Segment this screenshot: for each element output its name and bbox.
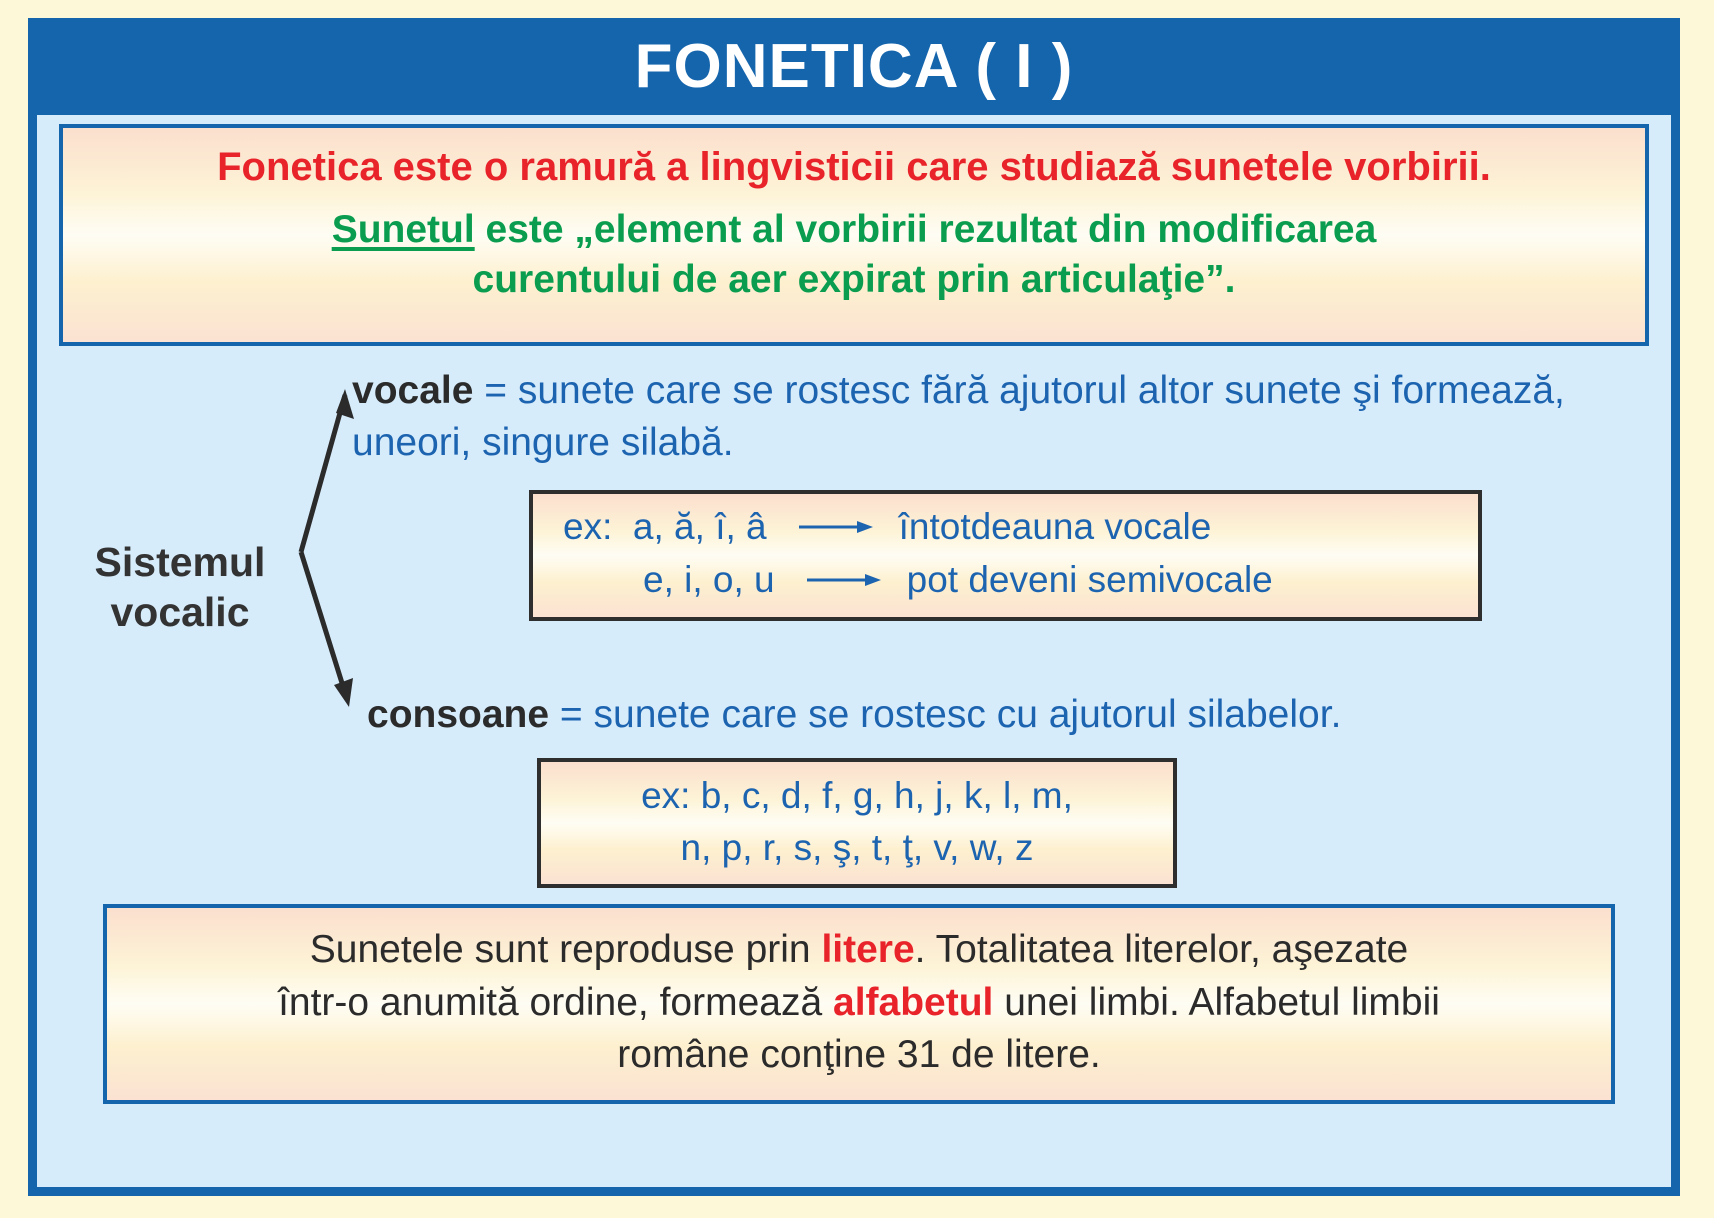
vocale-example-row-2: e, i, o, u pot deveni semivocale [533, 559, 1478, 602]
bottom-line-2-b: unei limbi. Alfabetul limbii [993, 981, 1440, 1024]
arrow-up-icon [301, 395, 345, 552]
vocale-examples-box: ex: a, ă, î, â întotdeauna vocale e, i, … [529, 490, 1482, 621]
definition-line-1: Fonetica este o ramură a lingvisticii ca… [63, 144, 1645, 191]
bottom-line-1-a: Sunetele sunt reproduse prin [310, 928, 822, 971]
consoane-definition-text: = sunete care se rostesc cu ajutorul sil… [549, 693, 1341, 736]
consoane-examples-box: ex: b, c, d, f, g, h, j, k, l, m, n, p, … [537, 758, 1177, 888]
bottom-line-1-b: . Totalitatea literelor, aşezate [915, 928, 1409, 971]
definition-panel: Fonetica este o ramură a lingvisticii ca… [59, 124, 1649, 346]
definition-keyword: Sunetul [332, 208, 475, 251]
definition-line-3: curentului de aer expirat prin articulaţ… [63, 255, 1645, 305]
bottom-line-2: într-o anumită ordine, formează alfabetu… [107, 977, 1611, 1030]
vocale-example-1-label: ex: a, ă, î, â [563, 506, 767, 549]
slide-title-bar: FONETICA ( I ) [28, 18, 1680, 115]
arrow-right-icon [805, 569, 883, 591]
bottom-line-1: Sunetele sunt reproduse prin litere. Tot… [107, 924, 1611, 977]
system-label: Sistemul vocalic [65, 537, 295, 637]
vocale-definition: vocale = sunete care se rostesc fără aju… [352, 365, 1652, 469]
vocale-example-2-result: pot deveni semivocale [883, 559, 1273, 602]
vocale-example-2-label: e, i, o, u [643, 559, 775, 602]
vocale-example-1-result: întotdeauna vocale [875, 506, 1212, 549]
slide-canvas: FONETICA ( I ) Fonetica este o ramură a … [0, 0, 1714, 1218]
bottom-highlight-alfabetul: alfabetul [833, 981, 993, 1024]
system-label-line-2: vocalic [65, 587, 295, 637]
definition-line-2: Sunetul este „element al vorbirii rezult… [63, 205, 1645, 255]
vocale-keyword: vocale [352, 369, 473, 412]
vocale-example-row-1: ex: a, ă, î, â întotdeauna vocale [533, 506, 1478, 549]
page-title: FONETICA ( I ) [635, 36, 1074, 98]
arrow-right-icon [797, 516, 875, 538]
consoane-example-row-1: ex: b, c, d, f, g, h, j, k, l, m, [541, 774, 1173, 818]
arrow-down-icon [301, 552, 347, 699]
consoane-definition: consoane = sunete care se rostesc cu aju… [367, 690, 1647, 741]
bottom-line-3: române conţine 31 de litere. [107, 1029, 1611, 1082]
consoane-example-row-2: n, p, r, s, ş, t, ţ, v, w, z [541, 826, 1173, 870]
definition-line-2-rest: este „element al vorbirii rezultat din m… [475, 208, 1377, 251]
bottom-line-2-a: într-o anumită ordine, formează [278, 981, 833, 1024]
bottom-panel: Sunetele sunt reproduse prin litere. Tot… [103, 904, 1615, 1104]
bottom-highlight-litere: litere [821, 928, 914, 971]
slide-frame: FONETICA ( I ) Fonetica este o ramură a … [28, 18, 1680, 1196]
system-label-line-1: Sistemul [65, 537, 295, 587]
arrow-down-head-icon [334, 678, 353, 707]
consoane-keyword: consoane [367, 693, 549, 736]
vocale-definition-text: = sunete care se rostesc fără ajutorul a… [352, 369, 1565, 464]
